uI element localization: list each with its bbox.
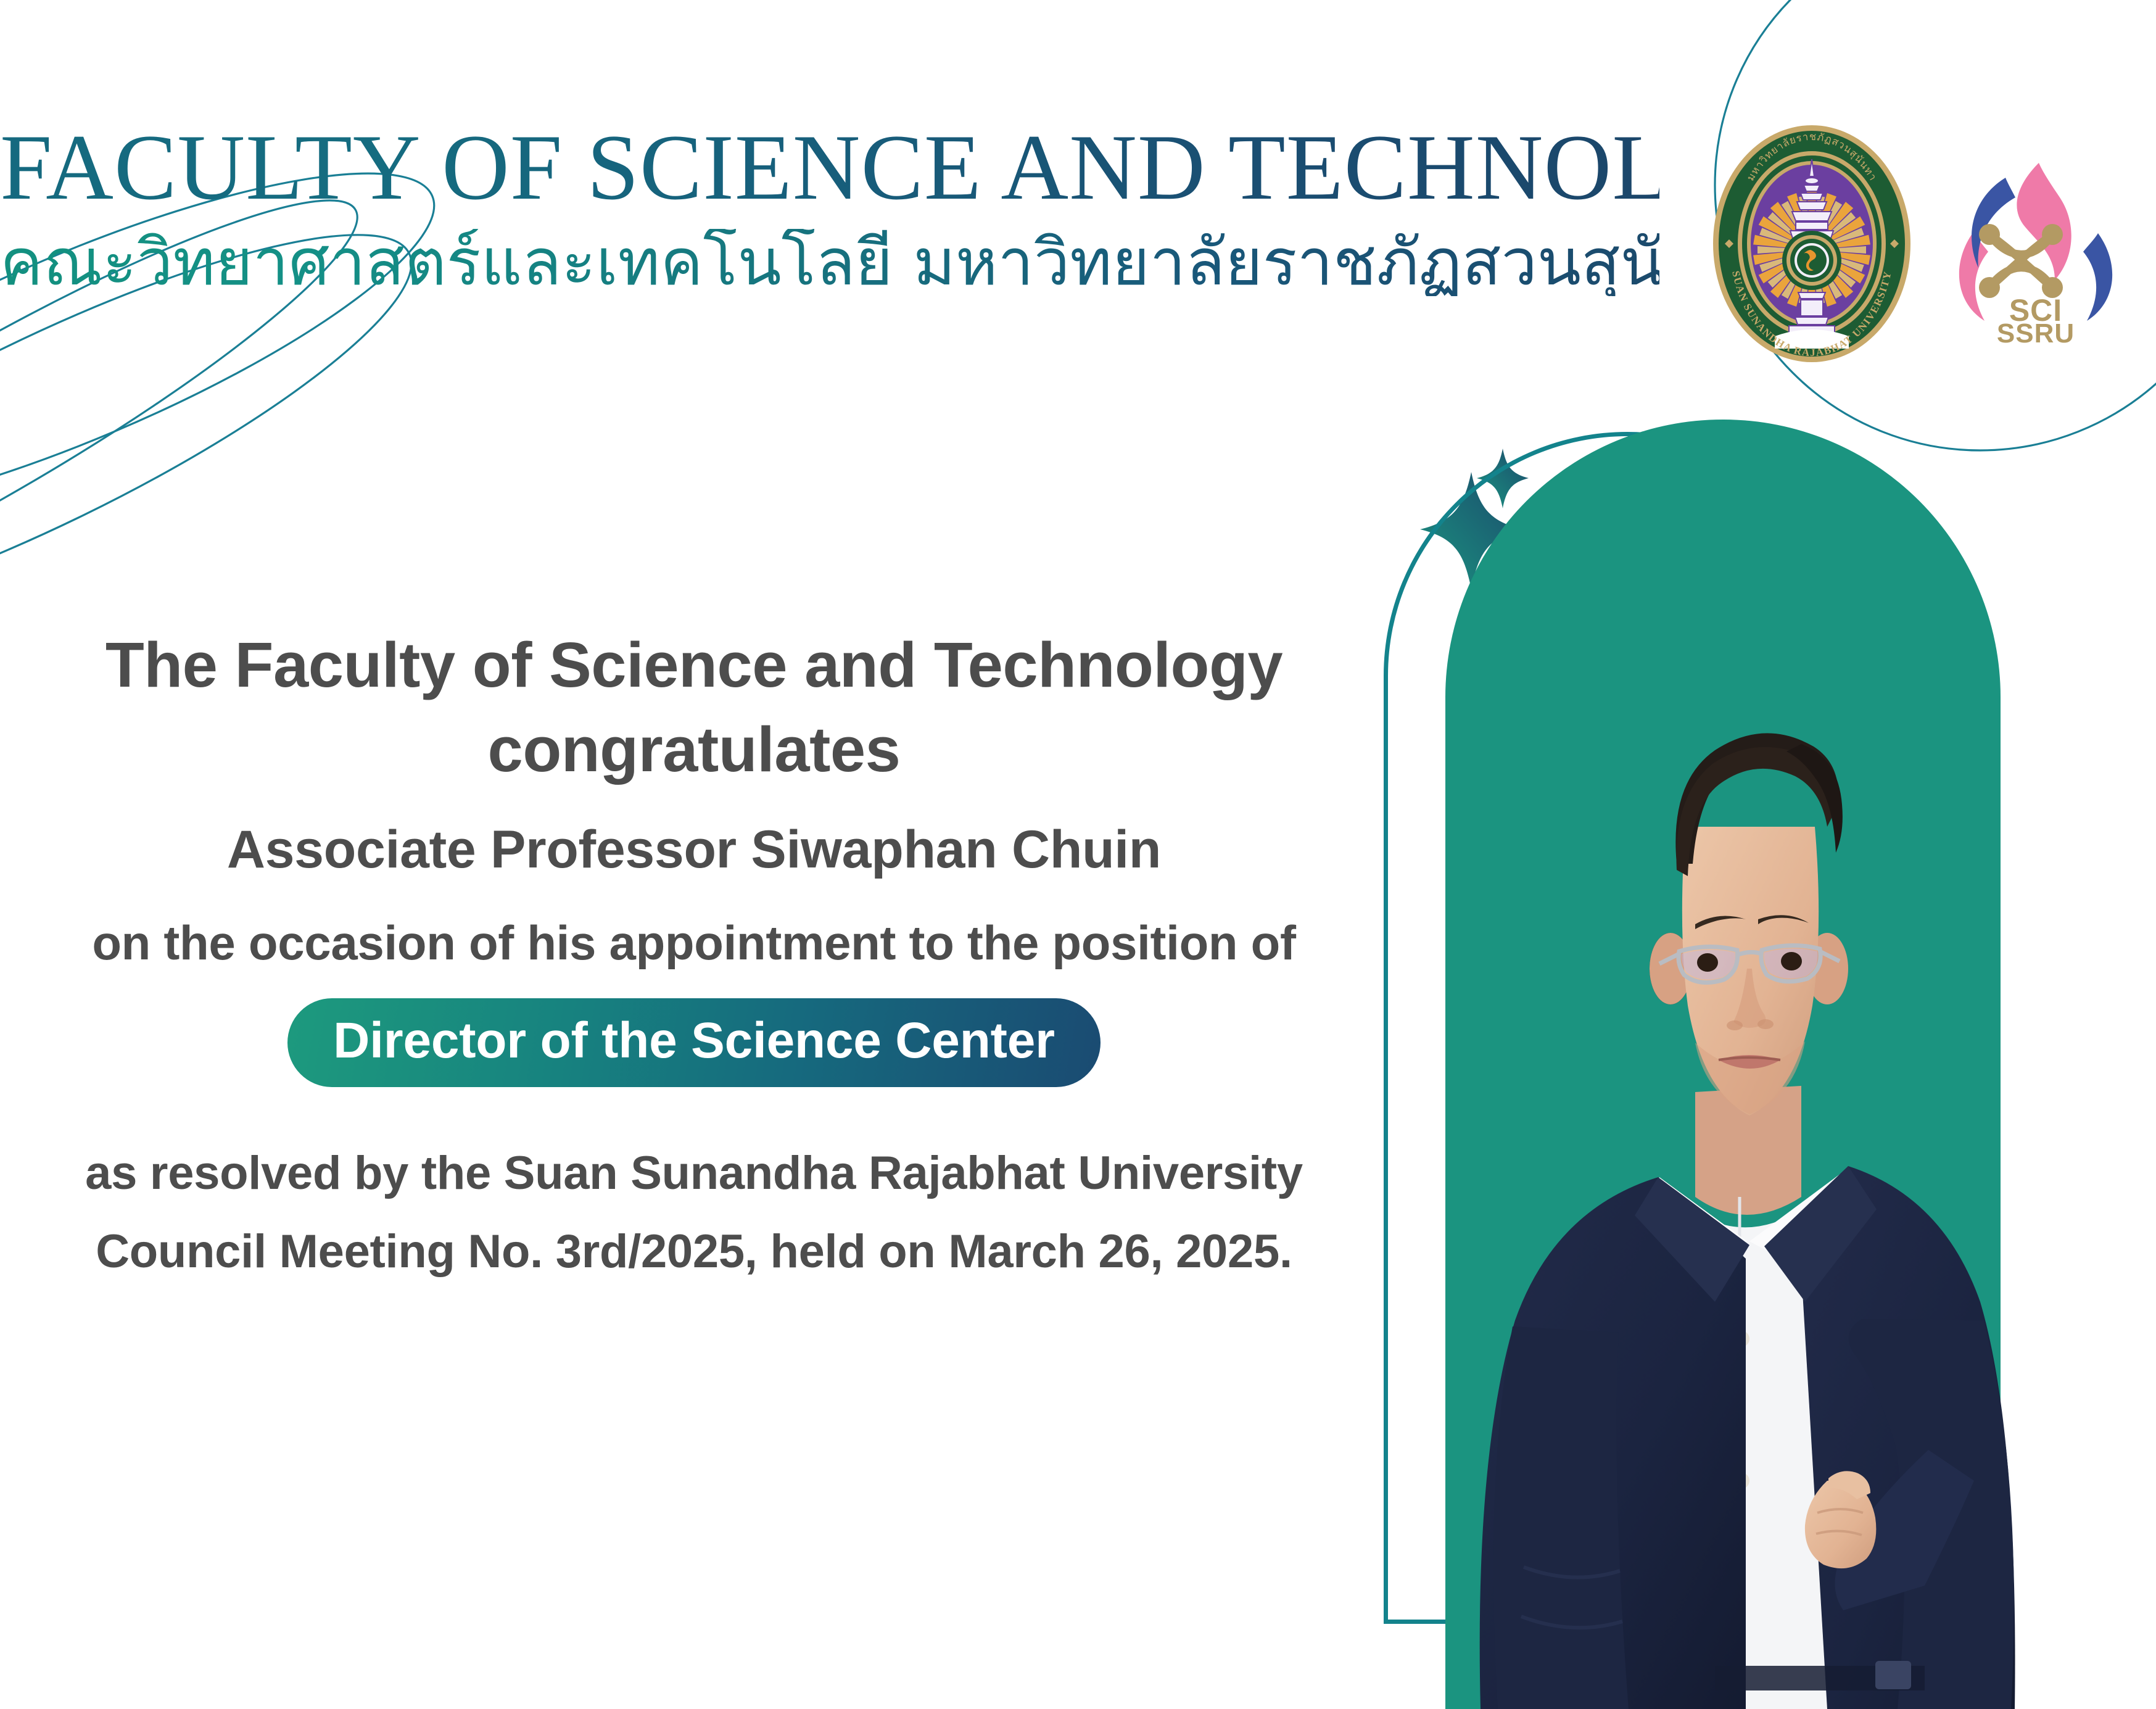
page-title-en: FACULTY OF SCIENCE AND TECHNOLOGY	[0, 120, 1659, 214]
page-title-th: คณะวิทยาศาสตร์และเทคโนโลยี มหาวิทยาลัยรา…	[0, 229, 1659, 296]
resolution-line-1: as resolved by the Suan Sunandha Rajabha…	[0, 1146, 1388, 1200]
congratulations-poster: FACULTY OF SCIENCE AND TECHNOLOGY คณะวิท…	[0, 0, 2156, 1709]
head	[1650, 733, 1848, 1115]
ssru-label: SSRU	[1997, 318, 2075, 344]
announcement-body: The Faculty of Science and Technology co…	[0, 623, 1388, 1278]
molecule-icon	[1989, 234, 2052, 288]
university-seal-logo: มหาวิทยาลัยราชภัฏสวนสุนันทา SUAN SUNANDH…	[1710, 123, 1914, 364]
honoree-name: Associate Professor Siwaphan Chuin	[0, 819, 1388, 880]
congratulation-lead: The Faculty of Science and Technology co…	[0, 623, 1388, 792]
header: FACULTY OF SCIENCE AND TECHNOLOGY คณะวิท…	[0, 120, 1659, 296]
resolution-line-2: Council Meeting No. 3rd/2025, held on Ma…	[0, 1225, 1388, 1278]
position-badge: Director of the Science Center	[287, 998, 1101, 1087]
person-figure	[1480, 733, 2015, 1709]
flame-blue-right	[2083, 233, 2112, 321]
portrait-photo	[1369, 395, 2156, 1709]
sci-ssru-logo: SCI SSRU	[1946, 159, 2125, 344]
occasion-line: on the occasion of his appointment to th…	[0, 915, 1388, 971]
